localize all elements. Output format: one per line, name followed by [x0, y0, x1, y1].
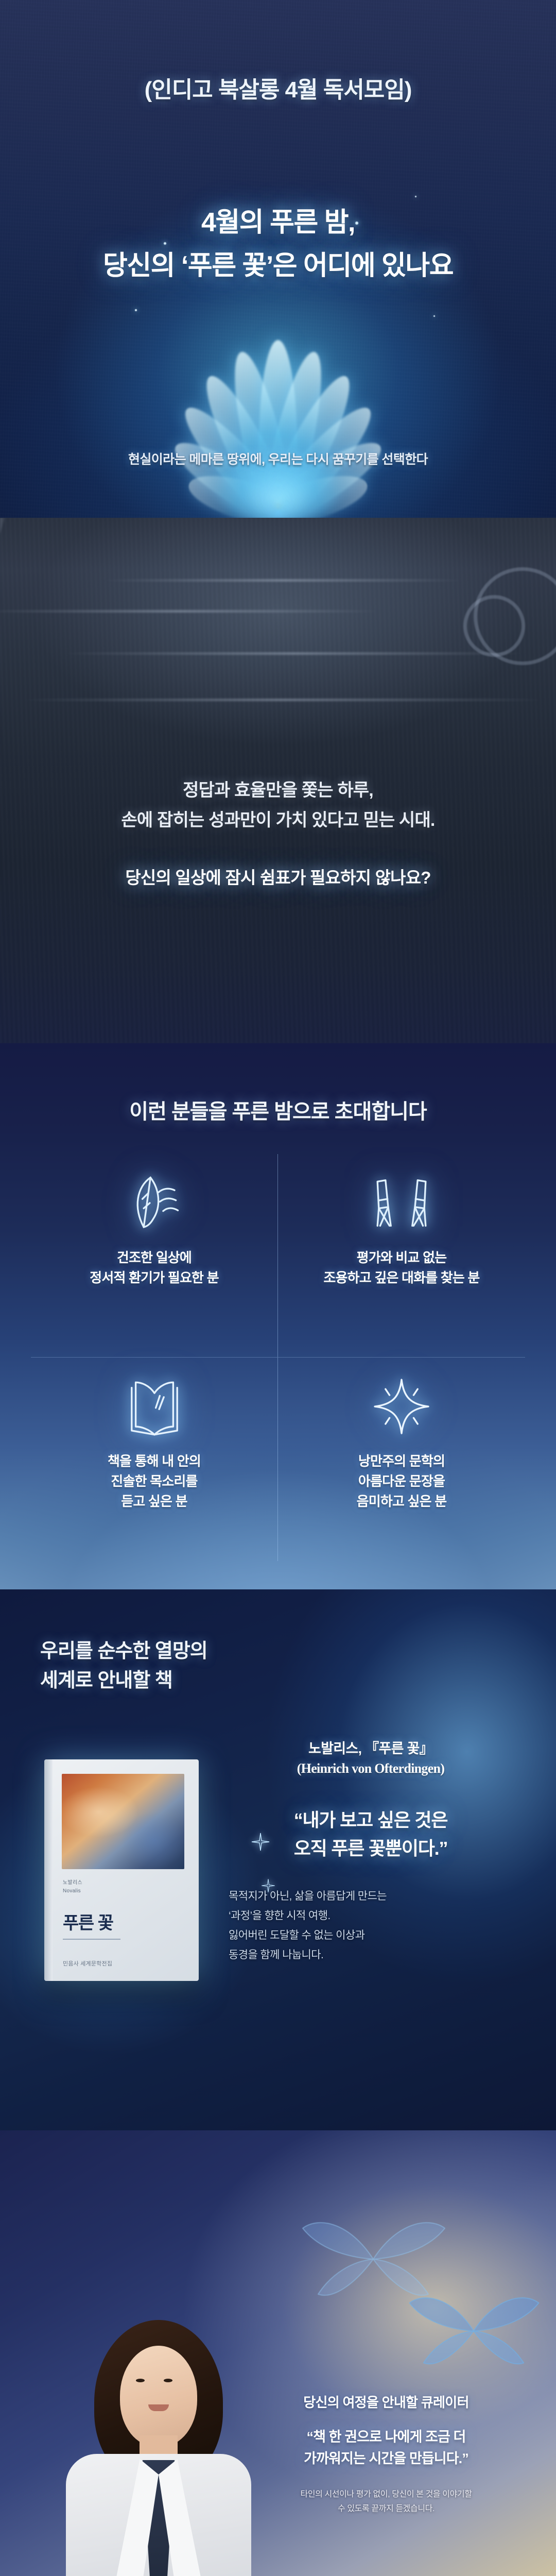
book-desc-line-4: 동경을 함께 나눕니다. [229, 1949, 323, 1961]
curator-note: 타인의 시선이나 평가 없이, 당신이 본 것을 이야기할 수 있도록 끝까지 … [242, 2487, 530, 2517]
invite-item-3-line-2: 진솔한 목소리를 [111, 1473, 197, 1489]
hero-title-line-1: 4월의 푸른 밤, [201, 208, 355, 238]
book-author-line: 노발리스, 『푸른 꽃』 (Heinrich von Ofterdingen) [221, 1739, 520, 1778]
invite-item-4-line-3: 음미하고 싶은 분 [357, 1494, 447, 1509]
book-heading-line-1: 우리를 순수한 열망의 [40, 1640, 207, 1662]
book-cover-title: 푸른 꽃 [63, 1909, 113, 1934]
book-description: 목적지가 아닌, 삶을 아름답게 만드는 ‘과정’을 향한 시적 여행. 잃어버… [221, 1887, 520, 1965]
book-cover-rule [63, 1939, 120, 1940]
book-desc-line-3: 잃어버린 도달할 수 없는 이상과 [229, 1929, 364, 1941]
book-author-en: (Heinrich von Ofterdingen) [297, 1761, 445, 1776]
problem-line-1: 정답과 효율만을 쫓는 하루, [183, 781, 373, 800]
page-title: 4월의 푸른 밤, 당신의 ‘푸른 꽃’은 어디에 있나요 [0, 201, 556, 287]
butterfly-icon-secondary [396, 2269, 551, 2391]
glowing-blue-flower-icon [113, 289, 443, 510]
book-detail-panel: 노발리스, 『푸른 꽃』 (Heinrich von Ofterdingen) … [221, 1739, 520, 1965]
promo-page: (인디고 북살롱 4월 독서모임) 4월의 푸른 밤, 당신의 ‘푸른 꽃’은 … [0, 0, 556, 2576]
problem-section: 정답과 효율만을 쫓는 하루, 손에 잡히는 성과만이 가치 있다고 믿는 시대… [0, 518, 556, 1043]
invite-item-2-line-2: 조용하고 깊은 대화를 찾는 분 [323, 1270, 479, 1285]
hero-section: (인디고 북살롱 4월 독서모임) 4월의 푸른 밤, 당신의 ‘푸른 꽃’은 … [0, 0, 556, 518]
invite-item-3: 책을 통해 내 안의 진솔한 목소리를 듣고 싶은 분 [31, 1358, 278, 1561]
invite-item-2-line-1: 평가와 비교 없는 [357, 1250, 447, 1265]
book-author-kr: 노발리스, 『푸른 꽃』 [308, 1741, 433, 1756]
book-quote-line-1: “내가 보고 싶은 것은 [294, 1809, 448, 1831]
curator-role: 당신의 여정을 안내할 큐레이터 [242, 2392, 530, 2411]
curator-text: 당신의 여정을 안내할 큐레이터 “책 한 권으로 나에게 조금 더 가까워지는… [242, 2392, 530, 2517]
book-quote-line-2: 오직 푸른 꽃뿐이다.” [294, 1838, 448, 1859]
invite-item-2: 평가와 비교 없는 조용하고 깊은 대화를 찾는 분 [278, 1154, 525, 1358]
invite-item-1-line-2: 정서적 환기가 필요한 분 [90, 1270, 218, 1285]
invite-item-3-line-1: 책을 통해 내 안의 [108, 1453, 201, 1469]
invite-section: 이런 분들을 푸른 밤으로 초대합니다 건조한 일상에 정서적 환기가 필요한 [0, 1043, 556, 1589]
invite-item-4-line-1: 낭만주의 문학의 [358, 1453, 445, 1469]
book-heading: 우리를 순수한 열망의 세계로 안내할 책 [40, 1637, 308, 1696]
invite-item-4-line-2: 아름다운 문장을 [358, 1473, 445, 1489]
curator-quote: “책 한 권으로 나에게 조금 더 가까워지는 시간을 만듭니다.” [242, 2427, 530, 2470]
hero-subtitle: 현실이라는 메마른 땅위에, 우리는 다시 꿈꾸기를 선택한다 [0, 449, 556, 468]
avatar [58, 2290, 259, 2576]
chairs-icon [368, 1170, 435, 1236]
invite-item-1-line-1: 건조한 일상에 [117, 1250, 192, 1265]
curator-quote-line-1: “책 한 권으로 나에게 조금 더 [307, 2429, 466, 2445]
invite-item-1-label: 건조한 일상에 정서적 환기가 필요한 분 [90, 1248, 218, 1288]
book-cover-publisher: 민음사 세계문학전집 [63, 1959, 112, 1968]
book-cover-meta: 노발리스 Novalis [63, 1879, 82, 1895]
book-desc-line-1: 목적지가 아닌, 삶을 아름답게 만드는 [229, 1890, 387, 1902]
curator-note-line-2: 수 있도록 끝까지 듣겠습니다. [338, 2504, 435, 2513]
hero-title-line-2: 당신의 ‘푸른 꽃’은 어디에 있나요 [103, 251, 453, 281]
book-cover-author-kr: 노발리스 [63, 1880, 82, 1886]
problem-statement: 정답과 효율만을 쫓는 하루, 손에 잡히는 성과만이 가치 있다고 믿는 시대… [0, 775, 556, 836]
invite-item-4-label: 낭만주의 문학의 아름다운 문장을 음미하고 싶은 분 [357, 1451, 447, 1512]
curator-quote-line-2: 가까워지는 시간을 만듭니다.” [304, 2451, 468, 2466]
curator-section: 당신의 여정을 안내할 큐레이터 “책 한 권으로 나에게 조금 더 가까워지는… [0, 2130, 556, 2576]
book-spine [44, 1759, 53, 1981]
problem-line-2: 손에 잡히는 성과만이 가치 있다고 믿는 시대. [121, 810, 435, 830]
open-book-icon [121, 1373, 188, 1440]
hero-eyebrow: (인디고 북살롱 4월 독서모임) [0, 71, 556, 104]
invite-item-3-label: 책을 통해 내 안의 진솔한 목소리를 듣고 싶은 분 [108, 1451, 201, 1512]
invite-item-4: 낭만주의 문학의 아름다운 문장을 음미하고 싶은 분 [278, 1358, 525, 1561]
book-desc-line-2: ‘과정’을 향한 시적 여행. [229, 1910, 331, 1922]
curator-note-line-1: 타인의 시선이나 평가 없이, 당신이 본 것을 이야기할 [300, 2490, 472, 2499]
book-cover-author-en: Novalis [63, 1888, 81, 1894]
book-cover: 노발리스 Novalis 푸른 꽃 민음사 세계문학전집 [44, 1759, 199, 1981]
invite-item-3-line-3: 듣고 싶은 분 [121, 1494, 187, 1509]
invite-item-1: 건조한 일상에 정서적 환기가 필요한 분 [31, 1154, 278, 1358]
book-section: 우리를 순수한 열망의 세계로 안내할 책 노발리스 Novalis 푸른 꽃 … [0, 1589, 556, 2130]
book-quote: “내가 보고 싶은 것은 오직 푸른 꽃뿐이다.” [221, 1806, 520, 1862]
sparkle-icon [368, 1373, 435, 1440]
book-heading-line-2: 세계로 안내할 책 [40, 1670, 172, 1691]
leaf-icon [121, 1170, 188, 1236]
book-cover-art [62, 1774, 184, 1869]
problem-question: 당신의 일상에 잠시 쉼표가 필요하지 않나요? [0, 864, 556, 889]
invite-item-2-label: 평가와 비교 없는 조용하고 깊은 대화를 찾는 분 [323, 1248, 479, 1288]
invite-grid: 건조한 일상에 정서적 환기가 필요한 분 평가와 비교 [31, 1154, 525, 1561]
invite-heading: 이런 분들을 푸른 밤으로 초대합니다 [0, 1095, 556, 1125]
